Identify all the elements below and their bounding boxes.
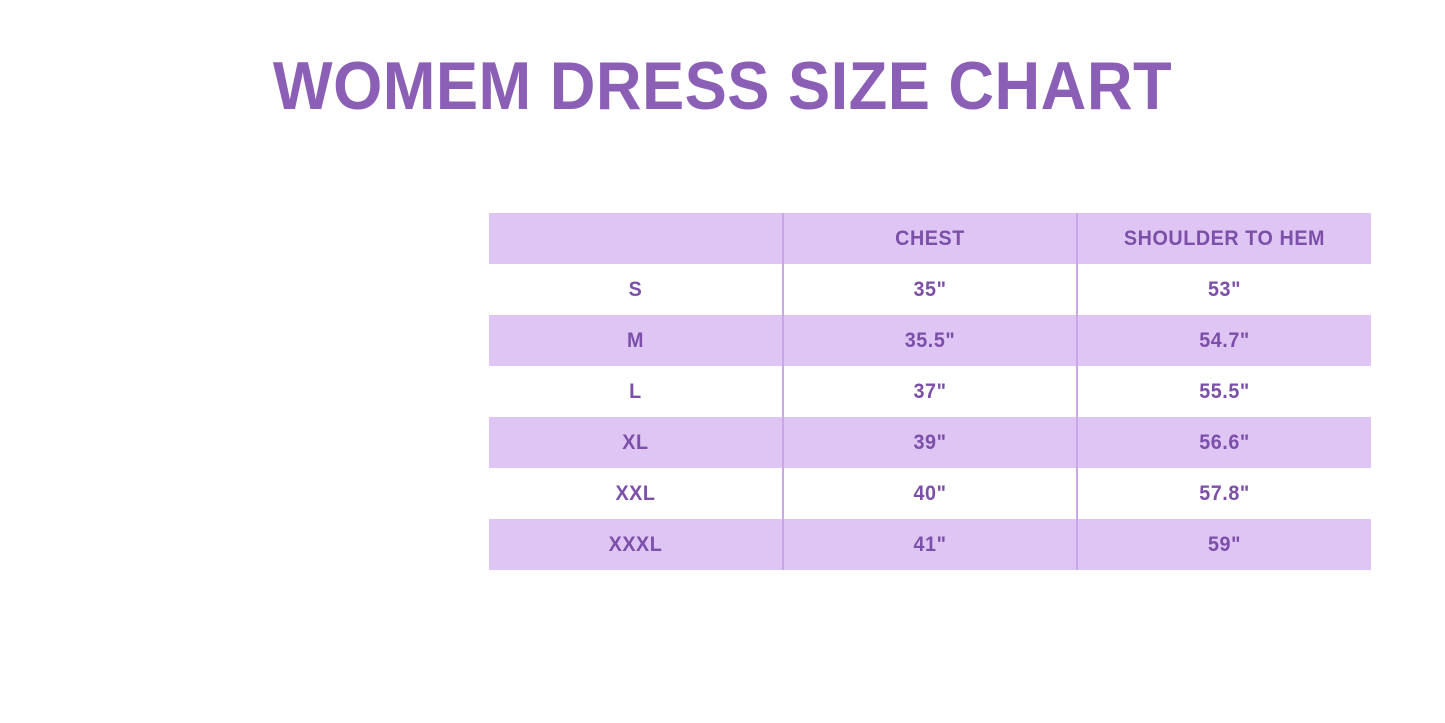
cell-size: XXXL bbox=[489, 519, 783, 570]
column-header-shoulder-to-hem: SHOULDER TO HEM bbox=[1077, 213, 1371, 264]
cell-chest-value: 41" bbox=[793, 533, 1067, 557]
cell-shoulder-to-hem-value: 53" bbox=[1087, 278, 1362, 302]
cell-shoulder-to-hem-value: 55.5" bbox=[1087, 380, 1362, 404]
table-row: M 35.5" 54.7" bbox=[489, 315, 1371, 366]
table-header-row: CHEST SHOULDER TO HEM bbox=[489, 213, 1371, 264]
cell-shoulder-to-hem: 55.5" bbox=[1077, 366, 1371, 417]
table-body: S 35" 53" M 35.5" 54.7" L 37" 55.5" XL 3… bbox=[489, 264, 1371, 570]
table-row: S 35" 53" bbox=[489, 264, 1371, 315]
table-row: XL 39" 56.6" bbox=[489, 417, 1371, 468]
cell-size-label: M bbox=[498, 329, 773, 353]
cell-size: XL bbox=[489, 417, 783, 468]
cell-size: M bbox=[489, 315, 783, 366]
page-title: WOMEM DRESS SIZE CHART bbox=[51, 52, 1395, 120]
column-header-size bbox=[489, 213, 783, 264]
cell-chest-value: 35.5" bbox=[793, 329, 1067, 353]
cell-chest: 35" bbox=[783, 264, 1077, 315]
cell-shoulder-to-hem: 54.7" bbox=[1077, 315, 1371, 366]
cell-shoulder-to-hem-value: 59" bbox=[1087, 533, 1362, 557]
cell-size-label: S bbox=[498, 278, 773, 302]
cell-chest: 35.5" bbox=[783, 315, 1077, 366]
cell-chest-value: 35" bbox=[793, 278, 1067, 302]
column-header-shoulder-to-hem-label: SHOULDER TO HEM bbox=[1087, 227, 1362, 251]
cell-chest: 40" bbox=[783, 468, 1077, 519]
cell-size-label: XXXL bbox=[498, 533, 773, 557]
cell-size: S bbox=[489, 264, 783, 315]
size-chart-page: WOMEM DRESS SIZE CHART CHEST SHOULDER TO… bbox=[0, 0, 1445, 723]
cell-shoulder-to-hem-value: 54.7" bbox=[1087, 329, 1362, 353]
cell-chest: 37" bbox=[783, 366, 1077, 417]
table-row: L 37" 55.5" bbox=[489, 366, 1371, 417]
cell-size: XXL bbox=[489, 468, 783, 519]
table-row: XXL 40" 57.8" bbox=[489, 468, 1371, 519]
cell-size: L bbox=[489, 366, 783, 417]
cell-size-label: XXL bbox=[498, 482, 773, 506]
cell-chest: 41" bbox=[783, 519, 1077, 570]
cell-chest-value: 39" bbox=[793, 431, 1067, 455]
column-header-chest-label: CHEST bbox=[793, 227, 1067, 251]
cell-shoulder-to-hem: 53" bbox=[1077, 264, 1371, 315]
cell-shoulder-to-hem: 57.8" bbox=[1077, 468, 1371, 519]
cell-size-label: XL bbox=[498, 431, 773, 455]
table-header: CHEST SHOULDER TO HEM bbox=[489, 213, 1371, 264]
table-row: XXXL 41" 59" bbox=[489, 519, 1371, 570]
size-chart-table-container: CHEST SHOULDER TO HEM S 35" 53" M 35.5" … bbox=[489, 213, 1371, 570]
cell-shoulder-to-hem: 56.6" bbox=[1077, 417, 1371, 468]
cell-chest-value: 40" bbox=[793, 482, 1067, 506]
size-chart-table: CHEST SHOULDER TO HEM S 35" 53" M 35.5" … bbox=[489, 213, 1371, 570]
cell-shoulder-to-hem-value: 57.8" bbox=[1087, 482, 1362, 506]
cell-chest: 39" bbox=[783, 417, 1077, 468]
column-header-chest: CHEST bbox=[783, 213, 1077, 264]
cell-size-label: L bbox=[498, 380, 773, 404]
cell-shoulder-to-hem-value: 56.6" bbox=[1087, 431, 1362, 455]
cell-chest-value: 37" bbox=[793, 380, 1067, 404]
cell-shoulder-to-hem: 59" bbox=[1077, 519, 1371, 570]
